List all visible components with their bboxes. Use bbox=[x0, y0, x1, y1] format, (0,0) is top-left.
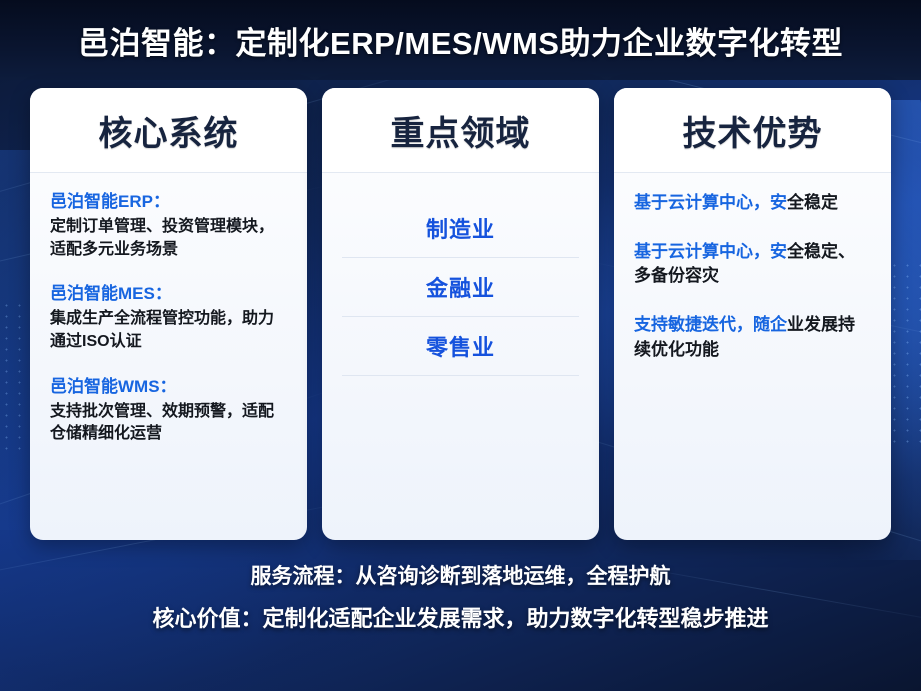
domain-item: 金融业 bbox=[342, 258, 579, 317]
system-desc: 集成生产全流程管控功能，助力通过ISO认证 bbox=[50, 308, 287, 353]
system-name: 邑泊智能WMS： bbox=[50, 376, 287, 399]
domain-list: 制造业 金融业 零售业 bbox=[342, 191, 579, 434]
card-header-tech-advantages: 技术优势 bbox=[614, 88, 891, 173]
page-title: 邑泊智能：定制化ERP/MES/WMS助力企业数字化转型 bbox=[78, 18, 843, 63]
domain-list-spacer bbox=[342, 376, 579, 434]
system-desc: 支持批次管理、效期预警，适配仓储精细化运营 bbox=[50, 401, 287, 446]
card-tech-advantages: 技术优势 基于云计算中心，安全稳定 基于云计算中心，安全稳定、多备份容灾 支持敏… bbox=[614, 88, 891, 540]
card-core-systems: 核心系统 邑泊智能ERP： 定制订单管理、投资管理模块，适配多元业务场景 邑泊智… bbox=[30, 88, 307, 540]
advantage-item: 基于云计算中心，安全稳定、多备份容灾 bbox=[634, 240, 871, 289]
card-title: 技术优势 bbox=[683, 106, 823, 155]
system-item: 邑泊智能ERP： 定制订单管理、投资管理模块，适配多元业务场景 bbox=[50, 191, 287, 261]
advantage-item: 支持敏捷迭代，随企业发展持续优化功能 bbox=[634, 313, 871, 362]
footer-core-value: 核心价值：定制化适配企业发展需求，助力数字化转型稳步推进 bbox=[0, 601, 921, 633]
card-body-tech-advantages: 基于云计算中心，安全稳定 基于云计算中心，安全稳定、多备份容灾 支持敏捷迭代，随… bbox=[614, 173, 891, 540]
title-banner: 邑泊智能：定制化ERP/MES/WMS助力企业数字化转型 bbox=[0, 0, 921, 80]
advantage-item: 基于云计算中心，安全稳定 bbox=[634, 191, 871, 216]
card-header-core-systems: 核心系统 bbox=[30, 88, 307, 173]
poster-canvas: 邑泊智能：定制化ERP/MES/WMS助力企业数字化转型 核心系统 邑泊智能ER… bbox=[0, 0, 921, 691]
advantage-highlight: 基于云计算中心，安 bbox=[634, 242, 787, 261]
footer-service-process: 服务流程：从咨询诊断到落地运维，全程护航 bbox=[0, 560, 921, 590]
card-title: 核心系统 bbox=[99, 106, 239, 155]
footer: 服务流程：从咨询诊断到落地运维，全程护航 核心价值：定制化适配企业发展需求，助力… bbox=[0, 560, 921, 633]
card-title: 重点领域 bbox=[391, 106, 531, 155]
card-header-key-domains: 重点领域 bbox=[322, 88, 599, 173]
system-name: 邑泊智能ERP： bbox=[50, 191, 287, 214]
system-desc: 定制订单管理、投资管理模块，适配多元业务场景 bbox=[50, 216, 287, 261]
system-item: 邑泊智能WMS： 支持批次管理、效期预警，适配仓储精细化运营 bbox=[50, 376, 287, 446]
card-body-core-systems: 邑泊智能ERP： 定制订单管理、投资管理模块，适配多元业务场景 邑泊智能MES：… bbox=[30, 173, 307, 540]
domain-item: 零售业 bbox=[342, 317, 579, 376]
system-item: 邑泊智能MES： 集成生产全流程管控功能，助力通过ISO认证 bbox=[50, 283, 287, 353]
advantage-highlight: 基于云计算中心，安 bbox=[634, 193, 787, 212]
advantage-highlight: 支持敏捷迭代，随企 bbox=[634, 315, 787, 334]
card-row: 核心系统 邑泊智能ERP： 定制订单管理、投资管理模块，适配多元业务场景 邑泊智… bbox=[30, 88, 891, 540]
advantage-rest: 全稳定 bbox=[787, 193, 838, 212]
card-key-domains: 重点领域 制造业 金融业 零售业 bbox=[322, 88, 599, 540]
domain-item: 制造业 bbox=[342, 199, 579, 258]
system-name: 邑泊智能MES： bbox=[50, 283, 287, 306]
card-body-key-domains: 制造业 金融业 零售业 bbox=[322, 173, 599, 540]
